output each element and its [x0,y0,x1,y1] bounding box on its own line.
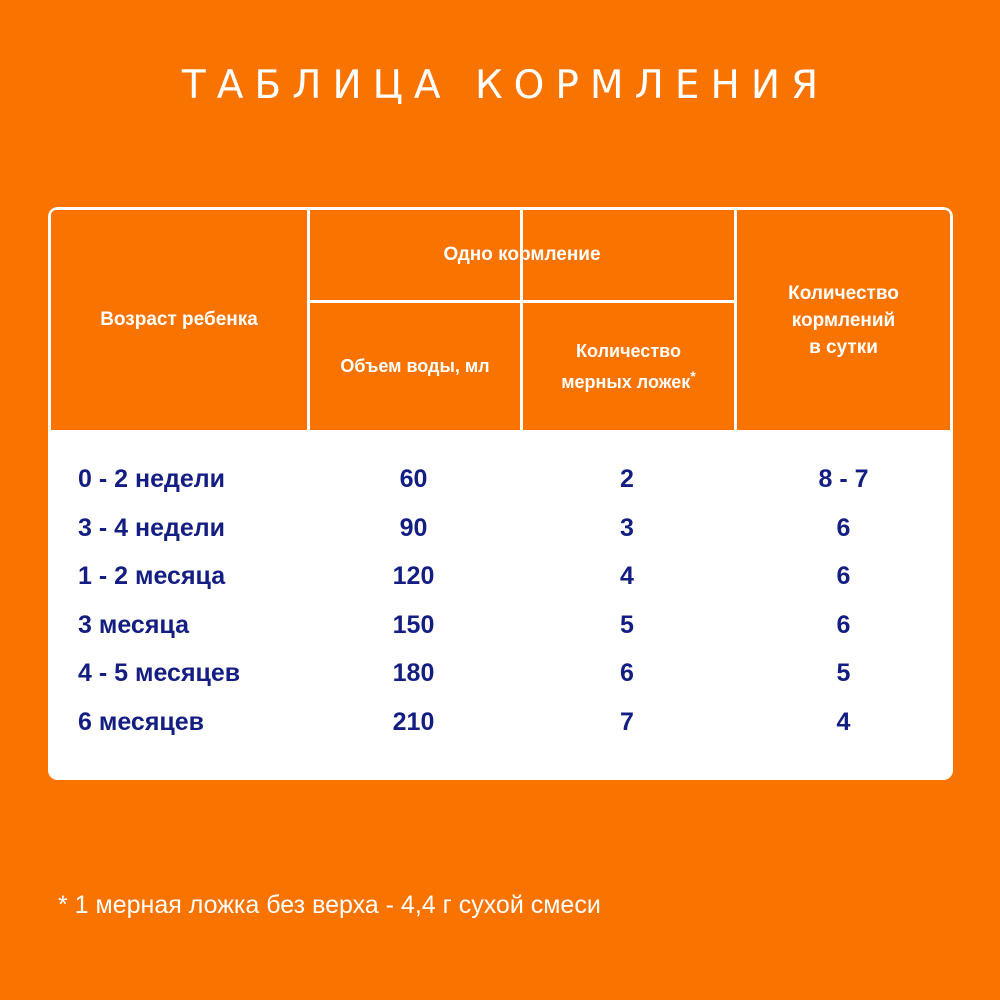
page-title: ТАБЛИЦА КОРМЛЕНИЯ [0,62,1000,110]
cell-water: 180 [307,649,520,698]
table-row: 4 - 5 месяцев 180 6 5 [48,649,953,698]
cell-scoops: 2 [520,455,734,504]
table-row: 6 месяцев 210 7 4 [48,698,953,747]
cell-per-day: 4 [734,698,953,747]
cell-age: 0 - 2 недели [78,455,307,504]
table-row: 3 месяца 150 5 6 [48,601,953,650]
header-cell-scoops: Количество мерных ложек* [523,303,734,430]
cell-scoops: 6 [520,649,734,698]
cell-scoops: 5 [520,601,734,650]
cell-water: 150 [307,601,520,650]
header-divider-2 [520,207,523,433]
table-body: 0 - 2 недели 60 2 8 - 7 3 - 4 недели 90 … [48,433,953,780]
header-scoops-line2: мерных ложек [561,372,690,392]
cell-per-day: 6 [734,552,953,601]
cell-water: 210 [307,698,520,747]
header-cell-feedings-per-day: Количество кормлений в сутки [737,210,950,430]
table-row: 3 - 4 недели 90 3 6 [48,504,953,553]
header-perday-line1: Количество [788,283,899,304]
cell-per-day: 5 [734,649,953,698]
header-cell-water-volume: Объем воды, мл [310,303,520,430]
cell-age: 3 месяца [78,601,307,650]
footnote-marker-asterisk: * [690,368,695,384]
cell-per-day: 6 [734,504,953,553]
table-row: 0 - 2 недели 60 2 8 - 7 [48,455,953,504]
cell-water: 60 [307,455,520,504]
header-divider-horizontal [307,300,737,303]
header-perday-line2: кормлений [792,310,896,331]
cell-scoops: 3 [520,504,734,553]
header-cell-age: Возраст ребенка [51,210,307,430]
cell-age: 3 - 4 недели [78,504,307,553]
table-header: Возраст ребенка Одно кормление Объем вод… [48,207,953,433]
cell-water: 90 [307,504,520,553]
cell-scoops: 4 [520,552,734,601]
header-divider-3 [734,207,737,433]
cell-age: 1 - 2 месяца [78,552,307,601]
cell-per-day: 8 - 7 [734,455,953,504]
header-divider-1 [307,207,310,433]
header-perday-line3: в сутки [809,337,878,358]
cell-per-day: 6 [734,601,953,650]
cell-scoops: 7 [520,698,734,747]
cell-age: 6 месяцев [78,698,307,747]
feeding-table: Возраст ребенка Одно кормление Объем вод… [48,207,953,780]
header-scoops-line1: Количество [576,341,681,361]
footnote-text: * 1 мерная ложка без верха - 4,4 г сухой… [58,888,601,922]
table-row: 1 - 2 месяца 120 4 6 [48,552,953,601]
cell-water: 120 [307,552,520,601]
cell-age: 4 - 5 месяцев [78,649,307,698]
